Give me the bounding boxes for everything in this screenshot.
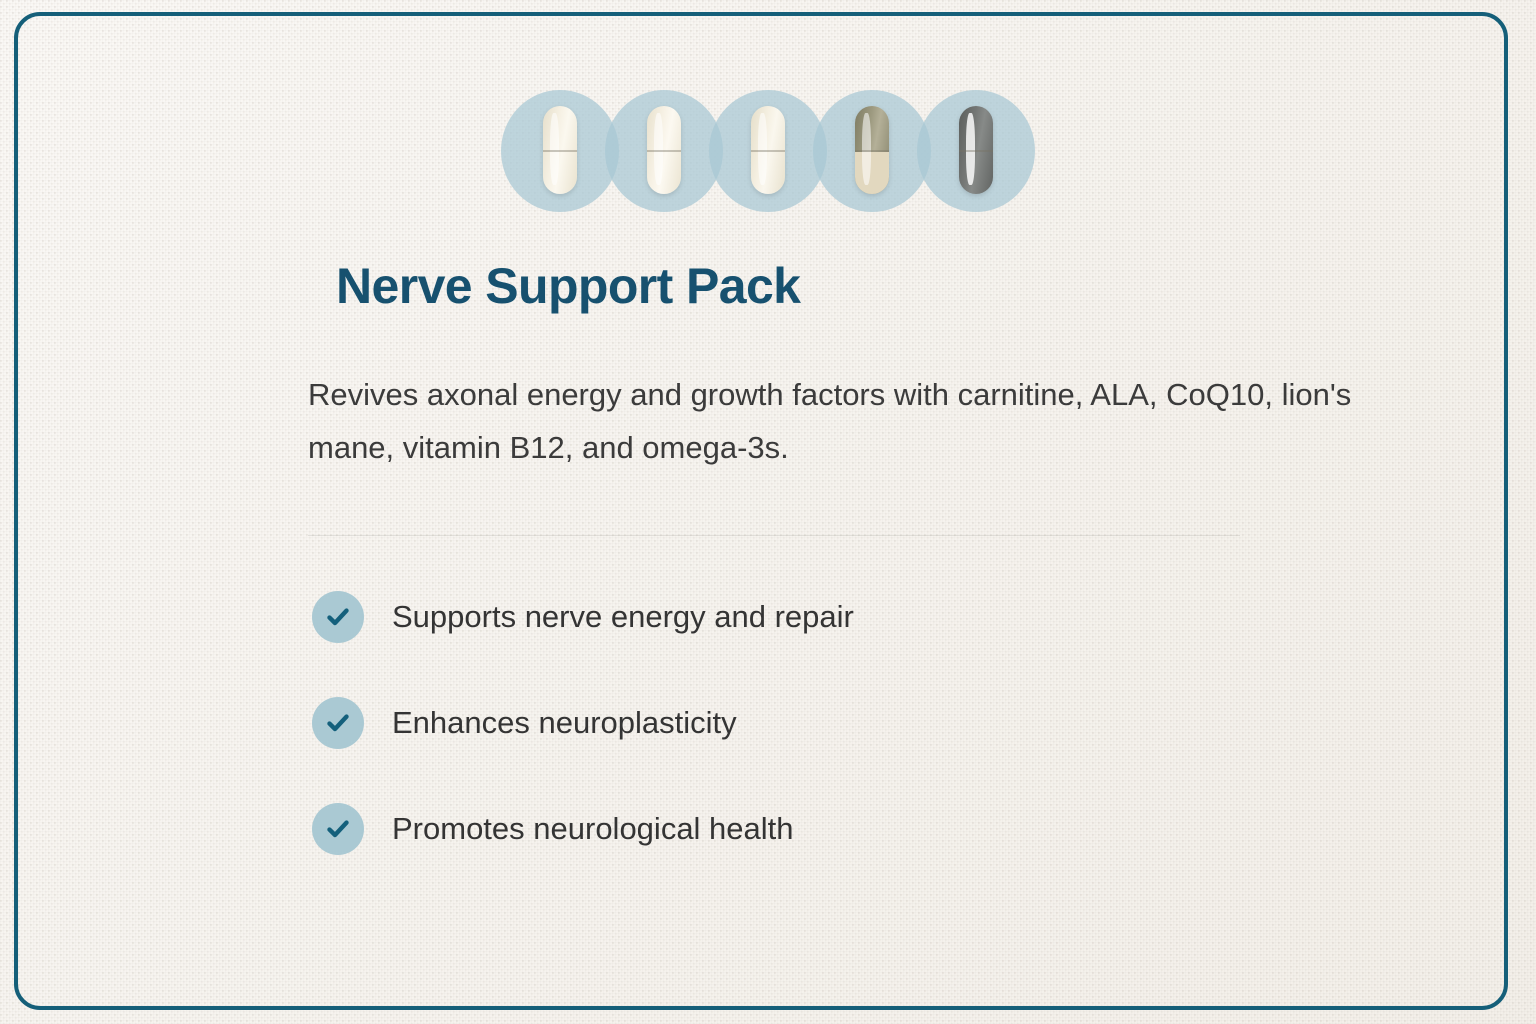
page-title: Nerve Support Pack (336, 258, 800, 316)
benefit-label: Enhances neuroplasticity (392, 704, 737, 741)
list-item: Promotes neurological health (312, 790, 1312, 868)
pill-cluster (0, 82, 1536, 218)
check-icon (312, 697, 364, 749)
benefits-list: Supports nerve energy and repair Enhance… (312, 578, 1312, 896)
check-icon (312, 803, 364, 855)
capsule-white-2-icon (647, 106, 681, 194)
pill-slot-2 (605, 86, 723, 214)
capsule-seam (855, 150, 889, 152)
capsule-seam (543, 150, 577, 152)
check-icon (312, 591, 364, 643)
pill-slot-1 (501, 86, 619, 214)
pill-slot-4 (813, 86, 931, 214)
section-divider (308, 535, 1240, 536)
capsule-white-3-icon (751, 106, 785, 194)
benefit-label: Supports nerve energy and repair (392, 598, 854, 635)
pill-slot-5 (917, 86, 1035, 214)
capsule-seam (959, 150, 993, 152)
capsule-white-1-icon (543, 106, 577, 194)
capsule-seam (647, 150, 681, 152)
product-card-page: Nerve Support Pack Revives axonal energy… (0, 0, 1536, 1024)
product-description: Revives axonal energy and growth factors… (308, 368, 1388, 475)
capsule-seam (751, 150, 785, 152)
capsule-gray-5-icon (959, 106, 993, 194)
capsule-lower-half (855, 152, 889, 194)
pill-slot-3 (709, 86, 827, 214)
benefit-label: Promotes neurological health (392, 810, 794, 847)
list-item: Enhances neuroplasticity (312, 684, 1312, 762)
list-item: Supports nerve energy and repair (312, 578, 1312, 656)
capsule-tan-4-icon (855, 106, 889, 194)
